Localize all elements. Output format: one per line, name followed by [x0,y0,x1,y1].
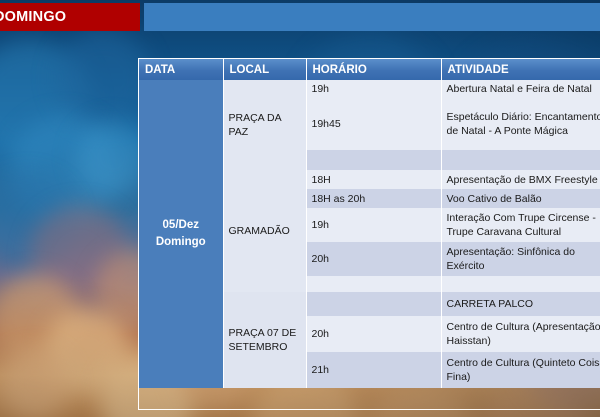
atividade-cell: Interação Com Trupe Circense - Trupe Car… [441,208,600,242]
horario-cell: 19h [306,80,441,98]
atividade-cell: Abertura Natal e Feira de Natal [441,80,600,98]
atividade-cell: Espetáculo Diário: Encantamento de Natal… [441,98,600,150]
column-header-local: LOCAL [223,59,306,80]
local-cell-praca-da-paz: PRAÇA DA PAZ [223,80,306,170]
column-header-atividade: ATIVIDADE [441,59,600,80]
header-accent-bar [144,3,600,31]
atividade-cell [441,276,600,292]
atividade-cell: CARRETA PALCO [441,292,600,316]
local-cell-gramadao: GRAMADÃO [223,170,306,292]
schedule-table-container: DATA LOCAL HORÁRIO ATIVIDADE 05/Dez Domi… [138,58,600,410]
date-line-2: Domingo [144,234,218,251]
horario-cell [306,292,441,316]
atividade-cell: Apresentação: Sinfônica do Exército [441,242,600,276]
horario-cell: 19h [306,208,441,242]
schedule-table: DATA LOCAL HORÁRIO ATIVIDADE 05/Dez Domi… [139,59,600,388]
horario-cell: 18H as 20h [306,189,441,208]
horario-cell [306,276,441,292]
horario-cell: 21h [306,352,441,388]
horario-cell: 18H [306,170,441,189]
date-cell: 05/Dez Domingo [139,80,223,388]
horario-cell: 20h [306,316,441,352]
local-cell-praca-07: PRAÇA 07 DE SETEMBRO [223,292,306,388]
horario-cell: 20h [306,242,441,276]
horario-cell: 19h45 [306,98,441,150]
atividade-cell: Apresentação de BMX Freestyle [441,170,600,189]
table-row: 05/Dez Domingo PRAÇA DA PAZ 19h Abertura… [139,80,600,98]
atividade-cell: Centro de Cultura (Apresentação Haisstan… [441,316,600,352]
header-bars: DOMINGO [0,0,600,33]
table-header-row: DATA LOCAL HORÁRIO ATIVIDADE [139,59,600,80]
column-header-horario: HORÁRIO [306,59,441,80]
atividade-cell: Centro de Cultura (Quinteto Coisa Fina) [441,352,600,388]
column-header-data: DATA [139,59,223,80]
day-banner: DOMINGO [0,3,140,31]
horario-cell [306,150,441,170]
atividade-cell: Voo Cativo de Balão [441,189,600,208]
atividade-cell [441,150,600,170]
date-line-1: 05/Dez [144,217,218,234]
day-banner-label: DOMINGO [0,9,66,25]
